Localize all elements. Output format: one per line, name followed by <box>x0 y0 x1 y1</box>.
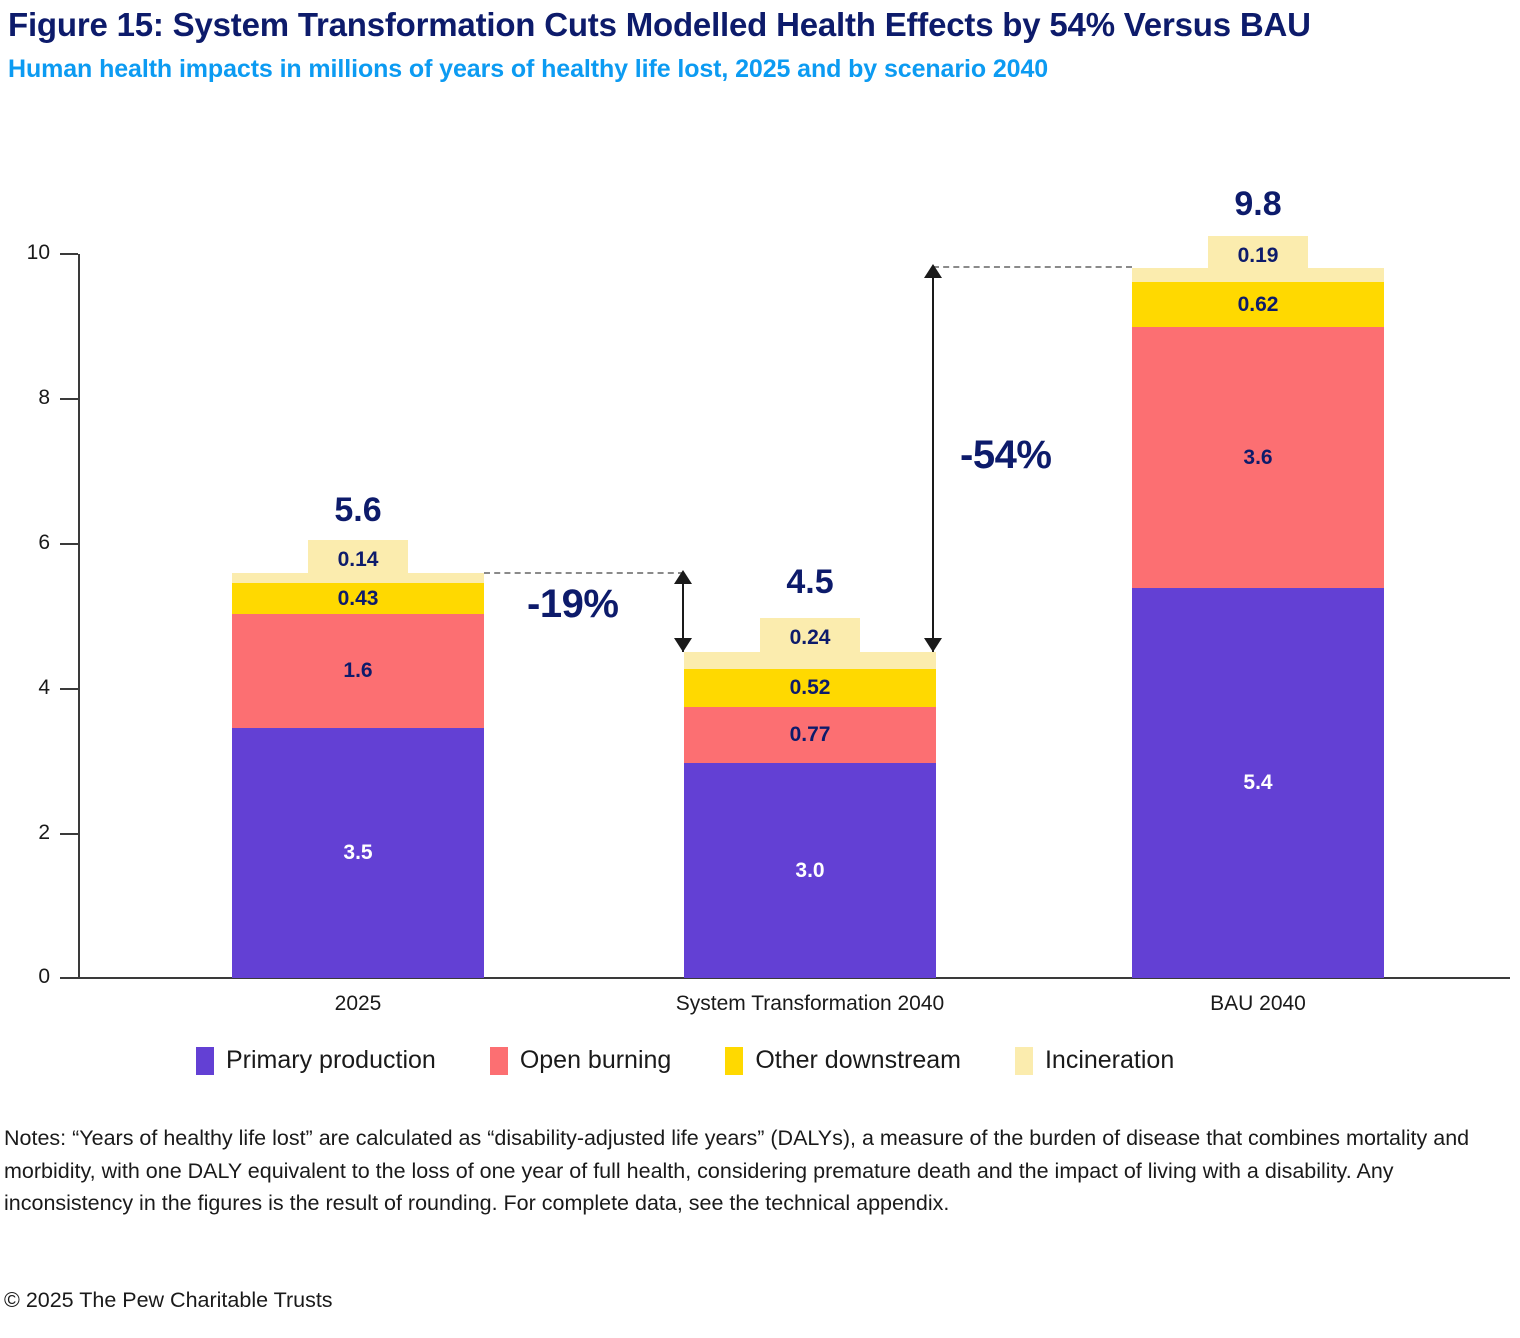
y-tick-mark-6 <box>60 543 78 545</box>
legend-swatch-icon-other-downstream <box>725 1047 743 1075</box>
bar-segment-value-incineration-bau-2040: 0.19 <box>1208 236 1308 276</box>
arrow-head-down-minus-54 <box>924 638 942 652</box>
arrow-head-up-minus-54 <box>924 264 942 278</box>
annotation-label-minus-54: -54% <box>960 433 1051 478</box>
figure-copyright: © 2025 The Pew Charitable Trusts <box>4 1288 333 1313</box>
chart-plot-area: 10 8 6 4 2 0 5.6 0.14 0.43 1.6 3.5 2025 … <box>0 0 1520 1040</box>
x-category-label-system-transformation-2040: System Transformation 2040 <box>624 992 996 1016</box>
dashed-connector-bau-2040 <box>933 266 1132 268</box>
legend-item-other-downstream[interactable]: Other downstream <box>725 1046 961 1075</box>
dashed-connector-2025 <box>484 572 684 574</box>
legend-label-other-downstream: Other downstream <box>755 1046 961 1075</box>
bar-segment-value-primary-production-system-transformation-2040: 3.0 <box>795 859 824 883</box>
bar-segment-other-downstream-bau-2040[interactable]: 0.62 <box>1132 282 1384 327</box>
x-category-label-bau-2040: BAU 2040 <box>1132 992 1384 1016</box>
legend-label-primary-production: Primary production <box>226 1046 436 1075</box>
arrow-head-up-minus-19 <box>674 570 692 584</box>
y-tick-label-0: 0 <box>4 965 50 989</box>
y-tick-label-4: 4 <box>4 676 50 700</box>
legend-label-open-burning: Open burning <box>520 1046 672 1075</box>
bar-segment-value-other-downstream-2025: 0.43 <box>338 587 379 611</box>
legend-label-incineration: Incineration <box>1045 1046 1174 1075</box>
bar-segment-primary-production-bau-2040[interactable]: 5.4 <box>1132 588 1384 978</box>
bar-segment-other-downstream-system-transformation-2040[interactable]: 0.52 <box>684 669 936 707</box>
y-tick-mark-2 <box>60 833 78 835</box>
bar-segment-open-burning-bau-2040[interactable]: 3.6 <box>1132 327 1384 588</box>
bar-segment-value-incineration-2025: 0.14 <box>308 540 408 580</box>
y-tick-label-2: 2 <box>4 821 50 845</box>
y-tick-mark-4 <box>60 688 78 690</box>
figure-notes: Notes: “Years of healthy life lost” are … <box>4 1122 1512 1220</box>
y-tick-mark-8 <box>60 398 78 400</box>
bar-segment-open-burning-2025[interactable]: 1.6 <box>232 614 484 728</box>
bar-segment-other-downstream-2025[interactable]: 0.43 <box>232 583 484 614</box>
legend-swatch-icon-incineration <box>1015 1047 1033 1075</box>
bar-segment-value-primary-production-bau-2040: 5.4 <box>1243 771 1272 795</box>
bar-segment-value-primary-production-2025: 3.5 <box>343 841 372 865</box>
bar-segment-primary-production-system-transformation-2040[interactable]: 3.0 <box>684 763 936 978</box>
bar-segment-value-other-downstream-system-transformation-2040: 0.52 <box>790 676 831 700</box>
chart-legend: Primary production Open burning Other do… <box>196 1046 1228 1075</box>
bar-segment-value-open-burning-2025: 1.6 <box>343 659 372 683</box>
bar-segment-value-other-downstream-bau-2040: 0.62 <box>1238 293 1279 317</box>
y-tick-label-6: 6 <box>4 531 50 555</box>
y-tick-mark-10 <box>60 253 78 255</box>
legend-swatch-icon-primary-production <box>196 1047 214 1075</box>
y-tick-label-10: 10 <box>4 241 50 265</box>
bar-segment-value-open-burning-bau-2040: 3.6 <box>1243 446 1272 470</box>
y-tick-label-8: 8 <box>4 386 50 410</box>
bar-segment-open-burning-system-transformation-2040[interactable]: 0.77 <box>684 707 936 763</box>
bar-segment-value-incineration-system-transformation-2040: 0.24 <box>760 618 860 658</box>
arrow-head-down-minus-19 <box>674 638 692 652</box>
bar-segment-primary-production-2025[interactable]: 3.5 <box>232 728 484 978</box>
bar-segment-value-open-burning-system-transformation-2040: 0.77 <box>790 723 831 747</box>
legend-item-open-burning[interactable]: Open burning <box>490 1046 672 1075</box>
y-axis-line <box>78 254 80 979</box>
bar-total-label-2025: 5.6 <box>232 491 484 530</box>
bar-total-label-system-transformation-2040: 4.5 <box>684 563 936 602</box>
legend-swatch-icon-open-burning <box>490 1047 508 1075</box>
y-tick-mark-0 <box>60 977 78 979</box>
annotation-label-minus-19: -19% <box>527 582 618 627</box>
arrow-shaft-minus-54 <box>932 266 934 652</box>
x-category-label-2025: 2025 <box>232 992 484 1016</box>
legend-item-incineration[interactable]: Incineration <box>1015 1046 1174 1075</box>
legend-item-primary-production[interactable]: Primary production <box>196 1046 436 1075</box>
bar-total-label-bau-2040: 9.8 <box>1132 185 1384 224</box>
